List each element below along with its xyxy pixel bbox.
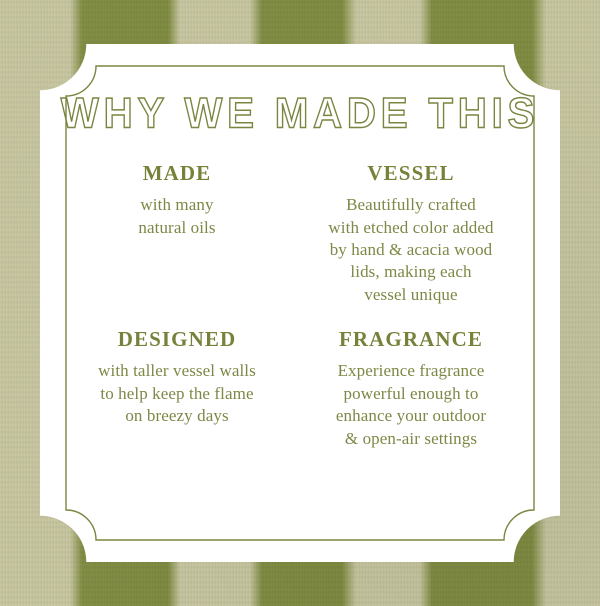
benefit-body-fragrance: Experience fragrance powerful enough to … bbox=[294, 360, 528, 450]
benefit-body-vessel: Beautifully crafted with etched color ad… bbox=[294, 194, 528, 306]
benefit-line: by hand & acacia wood bbox=[294, 239, 528, 261]
benefit-heading-designed: DESIGNED bbox=[72, 328, 282, 351]
benefit-line: with etched color added bbox=[294, 217, 528, 239]
benefit-made: MADE with many natural oils bbox=[66, 162, 288, 239]
poster-canvas: WHY WE MADE THIS MADE with many natural … bbox=[0, 0, 600, 606]
benefit-heading-made: MADE bbox=[72, 162, 282, 185]
benefit-fragrance: FRAGRANCE Experience fragrance powerful … bbox=[288, 306, 534, 450]
benefit-heading-vessel: VESSEL bbox=[294, 162, 528, 185]
benefit-line: with taller vessel walls bbox=[72, 360, 282, 382]
benefit-heading-fragrance: FRAGRANCE bbox=[294, 328, 528, 351]
benefit-designed: DESIGNED with taller vessel walls to hel… bbox=[66, 306, 288, 427]
benefit-line: Beautifully crafted bbox=[294, 194, 528, 216]
benefit-line: natural oils bbox=[72, 217, 282, 239]
benefit-line: on breezy days bbox=[72, 405, 282, 427]
page-title: WHY WE MADE THIS bbox=[52, 66, 548, 135]
benefit-body-made: with many natural oils bbox=[72, 194, 282, 239]
benefit-line: to help keep the flame bbox=[72, 383, 282, 405]
benefits-grid: MADE with many natural oils VESSEL Beaut… bbox=[66, 162, 534, 450]
card-content: WHY WE MADE THIS MADE with many natural … bbox=[66, 66, 534, 540]
benefit-line: lids, making each bbox=[294, 261, 528, 283]
benefit-line: with many bbox=[72, 194, 282, 216]
benefit-body-designed: with taller vessel walls to help keep th… bbox=[72, 360, 282, 427]
benefit-line: enhance your outdoor bbox=[294, 405, 528, 427]
benefit-vessel: VESSEL Beautifully crafted with etched c… bbox=[288, 162, 534, 306]
benefit-line: Experience fragrance bbox=[294, 360, 528, 382]
benefit-line: powerful enough to bbox=[294, 383, 528, 405]
benefit-line: vessel unique bbox=[294, 284, 528, 306]
benefit-line: & open-air settings bbox=[294, 428, 528, 450]
